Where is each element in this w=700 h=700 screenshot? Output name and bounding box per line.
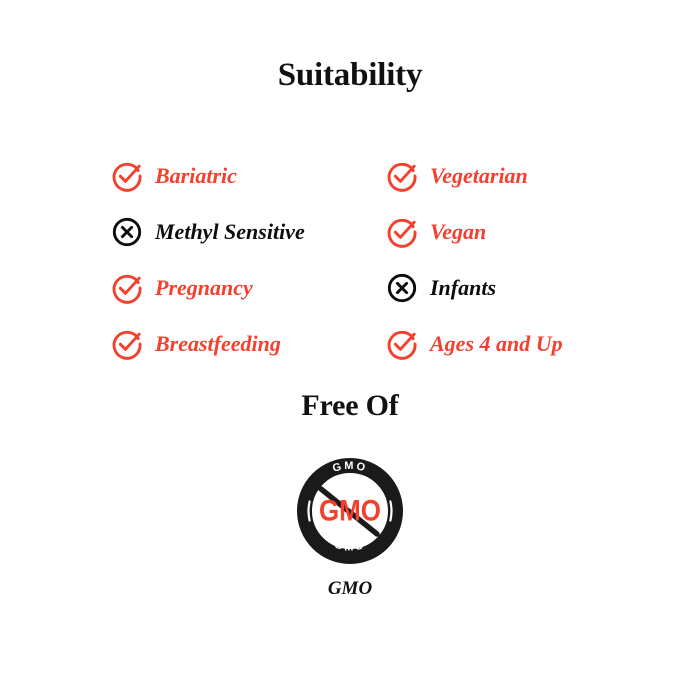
suitability-item-label: Breastfeeding (155, 331, 281, 357)
suitability-item-vegan: Vegan (387, 204, 612, 260)
suitability-item-label: Vegetarian (430, 163, 528, 189)
check-circle-icon (387, 329, 417, 359)
check-circle-icon (387, 161, 417, 191)
suitability-item-label: Vegan (430, 219, 486, 245)
suitability-item-label: Bariatric (155, 163, 237, 189)
svg-text:GMO: GMO (333, 539, 367, 554)
check-circle-icon (387, 217, 417, 247)
free-of-list: GMO GMO GMO GMO (0, 458, 700, 600)
no-gmo-badge-icon: GMO GMO GMO (297, 458, 403, 564)
check-circle-icon (112, 329, 142, 359)
suitability-item-methyl-sensitive: Methyl Sensitive (112, 204, 387, 260)
x-circle-icon (387, 273, 417, 303)
check-circle-icon (112, 161, 142, 191)
free-of-heading: Free Of (0, 387, 700, 425)
gmo-ring-bottom-text: GMO (333, 539, 367, 554)
check-circle-icon (112, 273, 142, 303)
suitability-heading: Suitability (0, 55, 700, 95)
suitability-item-label: Pregnancy (155, 275, 253, 301)
free-of-item-caption: GMO (328, 578, 372, 600)
suitability-item-infants: Infants (387, 260, 612, 316)
suitability-item-vegetarian: Vegetarian (387, 148, 612, 204)
suitability-item-label: Ages 4 and Up (430, 331, 563, 357)
suitability-item-pregnancy: Pregnancy (112, 260, 387, 316)
suitability-panel: Suitability Bariatric Vegetarian (0, 0, 700, 700)
suitability-item-ages-4-and-up: Ages 4 and Up (387, 316, 612, 372)
suitability-item-breastfeeding: Breastfeeding (112, 316, 387, 372)
suitability-item-bariatric: Bariatric (112, 148, 387, 204)
gmo-center-text: GMO (319, 495, 381, 528)
suitability-list: Bariatric Vegetarian Methyl Sensitive (112, 148, 612, 372)
suitability-item-label: Methyl Sensitive (155, 219, 305, 245)
suitability-item-label: Infants (430, 275, 496, 301)
x-circle-icon (112, 217, 142, 247)
